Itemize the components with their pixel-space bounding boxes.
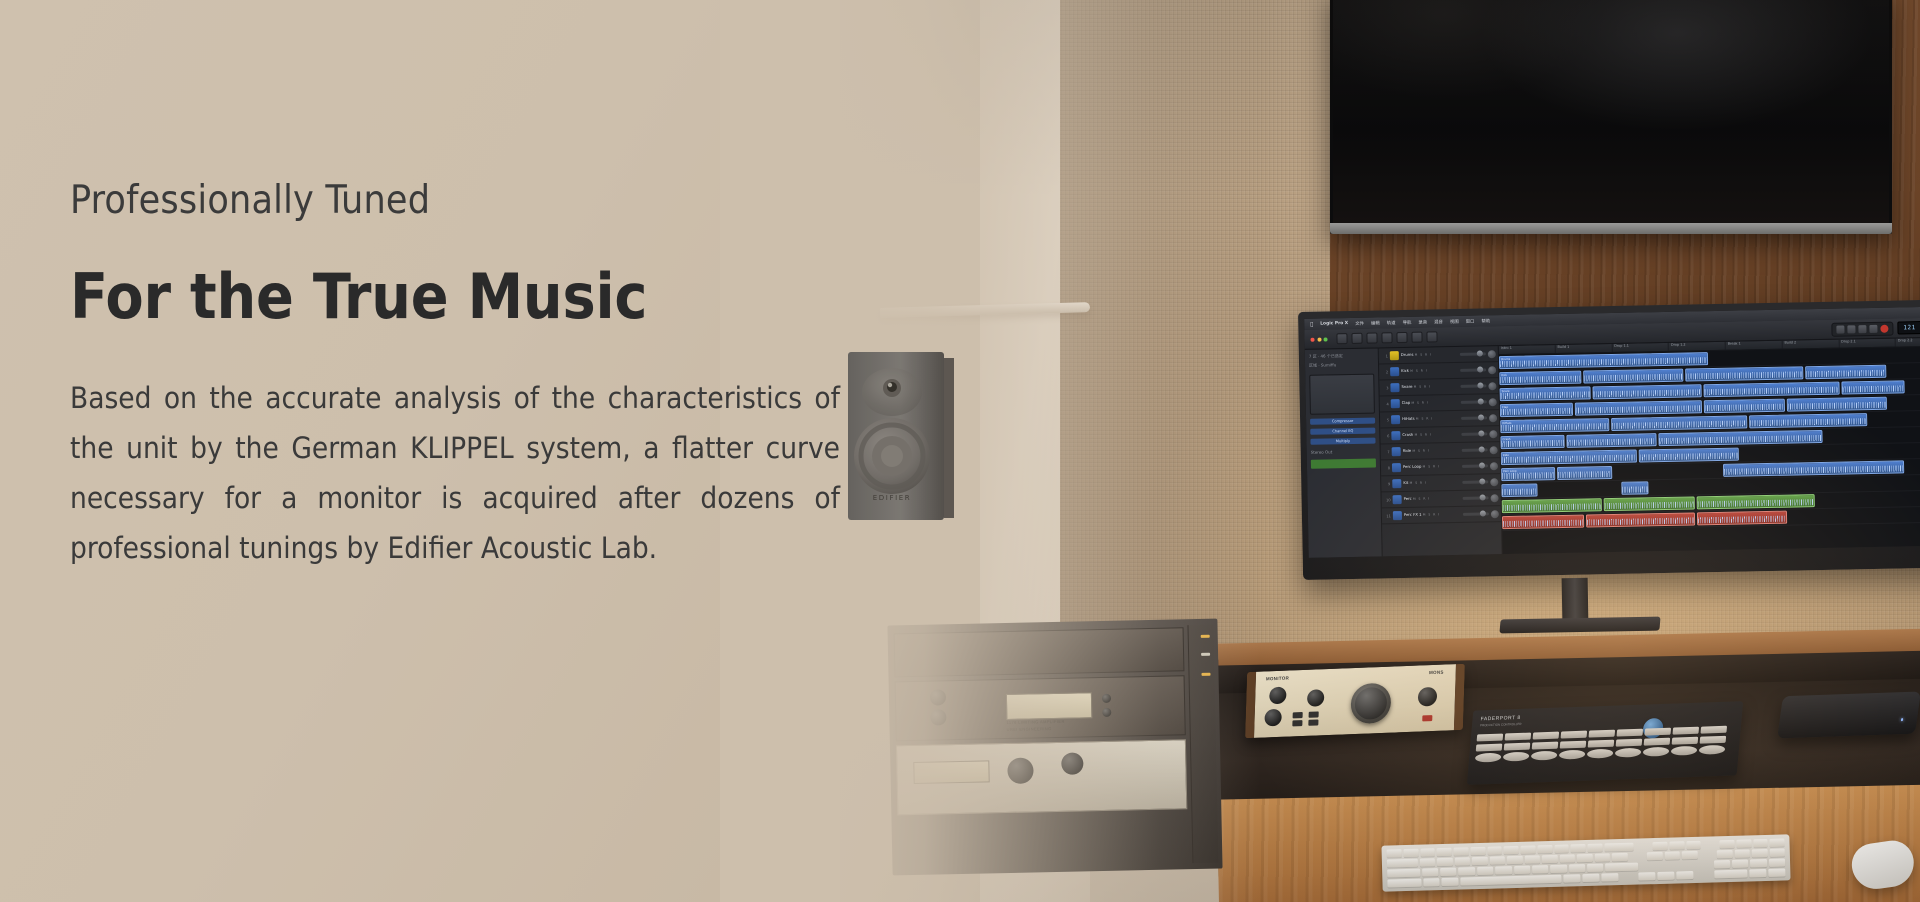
audio-region[interactable] — [1586, 512, 1695, 527]
vu-meter — [1006, 692, 1093, 720]
speaker-brand-text: EDIFIER — [873, 494, 911, 502]
surface-button[interactable] — [1589, 730, 1615, 738]
key[interactable] — [1768, 868, 1785, 876]
audio-region[interactable] — [1697, 511, 1788, 526]
key[interactable] — [1520, 845, 1535, 853]
audio-region[interactable] — [1502, 515, 1584, 530]
daw-inspector-panel: 7 区 · 46 个已选定 区域 · Sumiffu Compressor Ch… — [1305, 348, 1383, 557]
track-buttons[interactable]: M S R I — [1415, 353, 1432, 357]
track-volume-fader[interactable] — [1461, 416, 1487, 419]
key[interactable] — [1714, 869, 1748, 878]
tv-bottom-bezel — [1330, 223, 1892, 234]
key[interactable] — [1601, 873, 1618, 881]
daw-control-surface: FADERPORT 8 PRODUCTION CONTROLLER — [1467, 701, 1743, 785]
mac-mini — [1777, 691, 1920, 738]
audio-region[interactable]: Drums — [1499, 352, 1708, 369]
track-volume-fader[interactable] — [1460, 368, 1486, 371]
controller-body: MONITOR MONS — [1245, 664, 1465, 738]
rack-brand-label: UREI ENGINEERING — [1007, 726, 1052, 732]
key[interactable] — [1750, 869, 1767, 877]
surface-button[interactable] — [1644, 737, 1670, 745]
audio-region[interactable]: Clap — [1500, 403, 1573, 417]
key[interactable] — [1554, 844, 1569, 852]
track-volume-fader[interactable] — [1460, 384, 1486, 387]
daw-arrange-area[interactable]: Intro 1 Build 1 Drop 1.1 Drop 1.2 Break … — [1499, 337, 1920, 554]
menu-item-record[interactable]: 录音 — [1418, 319, 1427, 325]
marker-intro-1: Intro 1 — [1499, 345, 1556, 354]
key[interactable] — [1504, 846, 1519, 854]
apple-icon:  — [1310, 321, 1313, 327]
hero-copy: Professionally Tuned For the True Music … — [70, 178, 860, 574]
key[interactable] — [1605, 863, 1638, 872]
rack-unit-limiter: 1176 LIMITING AMPLIFIER UREI ENGINEERING — [895, 675, 1186, 741]
headphone-knob[interactable] — [1418, 687, 1438, 707]
track-volume-fader[interactable] — [1463, 496, 1489, 499]
rack-led — [1201, 635, 1210, 638]
input-knob[interactable] — [1307, 689, 1325, 707]
key[interactable] — [1752, 849, 1768, 857]
key[interactable] — [1652, 842, 1667, 850]
key[interactable] — [1734, 849, 1750, 857]
key[interactable] — [1420, 848, 1435, 856]
track-name: Perc Loop — [1403, 464, 1421, 469]
library-button[interactable] — [1336, 333, 1347, 344]
hero-banner:  Logic Pro X 文件 编辑 轨道 导航 录音 混音 视图 窗口 帮助 — [0, 0, 1920, 902]
key[interactable] — [1387, 859, 1418, 868]
track-buttons[interactable]: M S R I — [1423, 513, 1440, 517]
talkback-button[interactable] — [1422, 715, 1432, 721]
channel-fader-strip[interactable] — [1311, 459, 1376, 469]
surface-round-button[interactable] — [1699, 745, 1725, 755]
track-icon — [1391, 415, 1400, 424]
key[interactable] — [1532, 865, 1549, 873]
window-traffic-lights[interactable] — [1310, 337, 1327, 341]
daw-application:  Logic Pro X 文件 编辑 轨道 导航 录音 混音 视图 窗口 帮助 — [1304, 306, 1920, 557]
rack-switch[interactable] — [1102, 694, 1111, 703]
key[interactable] — [1437, 858, 1453, 866]
key[interactable] — [1717, 850, 1733, 858]
key[interactable] — [1736, 839, 1751, 847]
audio-region[interactable] — [1604, 496, 1695, 511]
rack-led — [1201, 653, 1210, 656]
hero-description: Based on the accurate analysis of the ch… — [70, 373, 840, 574]
key[interactable] — [1669, 841, 1684, 849]
audio-region[interactable]: Ride — [1501, 450, 1637, 466]
track-pan-knob[interactable] — [1490, 446, 1498, 454]
audio-region[interactable] — [1841, 380, 1905, 394]
key[interactable] — [1719, 840, 1734, 848]
track-icon — [1392, 479, 1401, 488]
transport-position-display: 121 1 1 1 — [1897, 321, 1920, 335]
eq-display[interactable] — [1309, 374, 1375, 415]
track-name: HiHats — [1402, 416, 1415, 421]
key[interactable] — [1420, 858, 1436, 866]
key[interactable] — [1577, 854, 1593, 862]
audio-region[interactable] — [1501, 483, 1538, 497]
menu-item-nav[interactable]: 导航 — [1402, 319, 1411, 325]
track-pan-knob[interactable] — [1488, 382, 1496, 390]
track-icon — [1390, 367, 1399, 376]
key[interactable] — [1563, 874, 1580, 882]
close-icon[interactable] — [1310, 337, 1314, 341]
key[interactable] — [1525, 855, 1541, 863]
track-name: Kick — [1401, 368, 1409, 373]
rack-switch[interactable] — [1102, 708, 1111, 717]
equipment-rack: 1176 LIMITING AMPLIFIER UREI ENGINEERING — [887, 619, 1222, 876]
track-name: Clap — [1402, 400, 1411, 405]
track-volume-fader[interactable] — [1461, 400, 1487, 403]
track-icon — [1391, 399, 1400, 408]
minimize-icon[interactable] — [1317, 337, 1321, 341]
audio-region[interactable] — [1639, 448, 1739, 463]
plugin-slot-channel-eq[interactable]: Channel EQ — [1310, 428, 1375, 435]
audio-region[interactable] — [1703, 382, 1839, 398]
stereo-out-label: Stereo Out — [1311, 449, 1333, 454]
stop-icon[interactable] — [1858, 325, 1866, 333]
marker-break-1: Break 1 — [1726, 341, 1783, 350]
key[interactable] — [1442, 878, 1459, 886]
key[interactable] — [1587, 864, 1604, 872]
level-meter — [913, 760, 989, 784]
key[interactable] — [1423, 878, 1440, 886]
key[interactable] — [1490, 856, 1506, 864]
toolbar-button[interactable] — [1381, 332, 1392, 343]
wall-mounted-tv — [1330, 0, 1892, 234]
track-buttons[interactable]: M S R I — [1413, 497, 1430, 501]
surface-button[interactable] — [1616, 738, 1642, 746]
key[interactable] — [1437, 848, 1452, 856]
key[interactable] — [1713, 860, 1730, 868]
audio-region[interactable]: Perc Loop — [1501, 467, 1556, 481]
track-buttons[interactable]: M S R I — [1416, 417, 1433, 421]
surface-button[interactable] — [1645, 728, 1671, 736]
track-pan-knob[interactable] — [1488, 350, 1496, 358]
controller-brand-right: MONS — [1429, 670, 1444, 676]
track-name: Ride — [1403, 448, 1412, 453]
smart-controls-button[interactable] — [1396, 332, 1407, 343]
track-pan-knob[interactable] — [1490, 462, 1498, 470]
rack-knob[interactable] — [930, 689, 946, 705]
audio-region[interactable] — [1611, 415, 1747, 431]
menu-item-mix[interactable]: 混音 — [1434, 319, 1443, 325]
inspector-row-region: 区域 · Sumiffu — [1309, 362, 1336, 369]
track-icon — [1392, 447, 1401, 456]
monitor-stand-neck — [1562, 578, 1589, 622]
key[interactable] — [1514, 866, 1531, 874]
key[interactable] — [1571, 844, 1586, 852]
key[interactable] — [1487, 846, 1502, 854]
key[interactable] — [1454, 847, 1469, 855]
audio-region[interactable] — [1704, 399, 1786, 414]
surface-button[interactable] — [1617, 729, 1643, 737]
key[interactable] — [1582, 874, 1599, 882]
surface-button[interactable] — [1477, 734, 1503, 742]
audio-region[interactable]: HiHats — [1500, 418, 1609, 433]
track-buttons[interactable]: M S R I — [1411, 401, 1428, 405]
dim-knob[interactable] — [1264, 709, 1282, 727]
surface-button[interactable] — [1673, 727, 1699, 735]
rack-led — [1201, 673, 1210, 676]
quick-help-button[interactable] — [1366, 332, 1377, 343]
marker-build-2: Build 2 — [1782, 340, 1839, 349]
key[interactable] — [1507, 856, 1523, 864]
menu-item-edit[interactable]: 编辑 — [1371, 320, 1380, 326]
rack-knob[interactable] — [930, 709, 946, 725]
track-buttons[interactable]: M S R I — [1414, 385, 1431, 389]
menu-item-view[interactable]: 视图 — [1450, 318, 1459, 324]
key[interactable] — [1664, 851, 1680, 859]
surface-round-button[interactable] — [1587, 749, 1613, 759]
menu-item-track[interactable]: 轨道 — [1387, 320, 1396, 326]
key[interactable] — [1422, 868, 1439, 876]
record-icon[interactable] — [1880, 324, 1888, 332]
track-name: Crash — [1402, 432, 1413, 437]
play-icon[interactable] — [1869, 324, 1877, 332]
plugin-slot-multiply[interactable]: Multiply — [1310, 438, 1375, 445]
arrow-key[interactable] — [1676, 871, 1693, 879]
eyebrow-text: Professionally Tuned — [70, 178, 860, 225]
surface-button[interactable] — [1504, 742, 1530, 750]
audio-region[interactable] — [1621, 481, 1648, 495]
rewind-icon[interactable] — [1836, 325, 1844, 333]
key[interactable] — [1440, 868, 1457, 876]
surface-button[interactable] — [1505, 733, 1531, 741]
track-icon — [1393, 495, 1402, 504]
track-buttons[interactable]: M S R I — [1423, 465, 1440, 469]
track-volume-fader[interactable] — [1462, 448, 1488, 451]
track-buttons[interactable]: M S R I — [1410, 481, 1427, 485]
plugin-slot-compressor[interactable]: Compressor — [1310, 418, 1375, 425]
menu-item-help[interactable]: 帮助 — [1481, 318, 1490, 324]
controller-brand-left: MONITOR — [1266, 676, 1289, 682]
track-name: Snare — [1401, 384, 1412, 389]
key[interactable] — [1470, 847, 1485, 855]
key[interactable] — [1732, 859, 1749, 867]
track-pan-knob[interactable] — [1488, 366, 1496, 374]
trim-knob[interactable] — [1269, 687, 1287, 705]
monitor-stand-base — [1499, 617, 1660, 634]
audio-region[interactable]: Kick — [1499, 371, 1581, 386]
marker-drop-1-1: Drop 1.1 — [1612, 343, 1669, 352]
key[interactable] — [1387, 879, 1421, 888]
surface-round-button[interactable] — [1503, 752, 1529, 762]
track-row[interactable]: 11 Perc FX 1 M S R I — [1382, 506, 1501, 524]
inspector-button[interactable] — [1351, 333, 1362, 344]
key[interactable] — [1455, 857, 1471, 865]
audio-region[interactable] — [1723, 460, 1905, 476]
surface-sub-label: PRODUCTION CONTROLLER — [1480, 722, 1522, 727]
audio-region[interactable] — [1749, 413, 1867, 428]
key[interactable] — [1495, 866, 1512, 874]
audio-region[interactable] — [1566, 433, 1657, 448]
key[interactable] — [1750, 859, 1767, 867]
audio-region[interactable] — [1685, 366, 1803, 381]
marker-drop-2-2: Drop 2.2 — [1896, 337, 1920, 346]
editors-button[interactable] — [1426, 331, 1437, 342]
inspector-row-selection: 7 区 · 46 个已选定 — [1309, 353, 1343, 360]
surface-button[interactable] — [1533, 732, 1559, 740]
key[interactable] — [1604, 843, 1634, 852]
menu-item-file[interactable]: 文件 — [1355, 320, 1364, 326]
audio-region[interactable] — [1659, 430, 1823, 446]
surface-button[interactable] — [1700, 735, 1726, 743]
key[interactable] — [1682, 851, 1698, 859]
key[interactable] — [1686, 841, 1701, 849]
forward-icon[interactable] — [1847, 325, 1855, 333]
audio-region[interactable] — [1592, 384, 1701, 399]
key[interactable] — [1595, 853, 1611, 861]
key[interactable] — [1387, 869, 1420, 878]
track-volume-fader[interactable] — [1463, 512, 1489, 515]
audio-region[interactable] — [1557, 466, 1612, 480]
transport-controls[interactable] — [1831, 321, 1893, 336]
track-name: Kit — [1403, 480, 1408, 485]
tv-screen — [1333, 0, 1889, 224]
daw-app-name: Logic Pro X — [1320, 321, 1348, 327]
key[interactable] — [1403, 849, 1418, 857]
track-name: Drums — [1401, 352, 1414, 357]
computer-monitor:  Logic Pro X 文件 编辑 轨道 导航 录音 混音 视图 窗口 帮助 — [1298, 299, 1920, 580]
key[interactable] — [1569, 864, 1586, 872]
track-pan-knob[interactable] — [1491, 494, 1499, 502]
audio-region[interactable] — [1583, 369, 1683, 384]
audio-region[interactable] — [1502, 498, 1602, 513]
surface-button-grid[interactable] — [1475, 726, 1727, 763]
daw-body: 7 区 · 46 个已选定 区域 · Sumiffu Compressor Ch… — [1305, 337, 1920, 557]
rack-unit-label: 1176 LIMITING AMPLIFIER — [1006, 719, 1064, 725]
output-knob[interactable] — [1061, 752, 1083, 774]
surface-round-button[interactable] — [1559, 750, 1585, 760]
key[interactable] — [1612, 853, 1628, 861]
key[interactable] — [1459, 867, 1476, 875]
track-pan-knob[interactable] — [1489, 398, 1497, 406]
track-icon — [1392, 463, 1401, 472]
audio-region[interactable] — [1574, 400, 1701, 415]
mute-button[interactable] — [1293, 712, 1303, 718]
volume-knob[interactable] — [1350, 683, 1391, 725]
marker-drop-1-2: Drop 1.2 — [1669, 342, 1726, 351]
speaker-a-button[interactable] — [1292, 720, 1302, 726]
track-icon — [1390, 383, 1399, 392]
surface-button[interactable] — [1561, 731, 1587, 739]
surface-round-button[interactable] — [1475, 753, 1501, 763]
track-volume-fader[interactable] — [1461, 432, 1487, 435]
surface-button[interactable] — [1588, 739, 1614, 747]
track-icon — [1393, 511, 1402, 520]
rack-rails — [1187, 625, 1218, 863]
track-buttons[interactable]: M S R I — [1410, 369, 1427, 373]
track-name: Perc — [1404, 496, 1412, 501]
speaker-b-button[interactable] — [1308, 719, 1318, 725]
edifier-studio-monitor: EDIFIER — [846, 348, 956, 528]
audio-region[interactable]: Crash — [1500, 435, 1564, 449]
key[interactable] — [1753, 839, 1768, 847]
mono-button[interactable] — [1309, 711, 1319, 717]
key[interactable] — [1769, 848, 1785, 856]
key[interactable] — [1560, 854, 1576, 862]
key[interactable] — [1770, 838, 1785, 846]
surface-button[interactable] — [1672, 736, 1698, 744]
track-buttons[interactable]: M S R I — [1412, 449, 1429, 453]
key[interactable] — [1550, 865, 1567, 873]
surface-button[interactable] — [1701, 726, 1727, 734]
track-volume-fader[interactable] — [1462, 464, 1488, 467]
zoom-icon[interactable] — [1323, 337, 1327, 341]
track-pan-knob[interactable] — [1491, 510, 1499, 518]
track-pan-knob[interactable] — [1489, 414, 1497, 422]
track-icon — [1391, 431, 1400, 440]
audio-region[interactable]: Snare — [1499, 386, 1590, 401]
key[interactable] — [1472, 857, 1488, 865]
key[interactable] — [1477, 867, 1494, 875]
surface-round-button[interactable] — [1643, 747, 1669, 757]
surface-button[interactable] — [1476, 743, 1502, 751]
track-name: Perc FX 1 — [1404, 512, 1422, 517]
track-volume-fader[interactable] — [1460, 352, 1486, 355]
marker-build-1: Build 1 — [1555, 344, 1612, 353]
surface-round-button[interactable] — [1671, 746, 1697, 756]
audio-region[interactable] — [1787, 397, 1887, 412]
key[interactable] — [1647, 852, 1663, 860]
track-buttons[interactable]: M S R I — [1415, 433, 1432, 437]
track-icon — [1390, 351, 1399, 360]
page-title: For the True Music — [70, 263, 860, 331]
menu-item-window[interactable]: 窗口 — [1466, 318, 1475, 324]
track-pan-knob[interactable] — [1489, 430, 1497, 438]
mixer-button[interactable] — [1411, 332, 1422, 343]
daw-track-headers: 1 Drums M S R I 2 — [1379, 346, 1503, 556]
marker-drop-2-1: Drop 2.1 — [1839, 339, 1896, 348]
arrow-key[interactable] — [1639, 872, 1656, 880]
rack-unit-preamp — [896, 739, 1187, 815]
audio-region[interactable] — [1696, 494, 1814, 509]
audio-region[interactable] — [1805, 365, 1887, 380]
surface-button[interactable] — [1560, 740, 1586, 748]
track-pan-knob[interactable] — [1490, 478, 1498, 486]
key[interactable] — [1387, 849, 1402, 857]
surface-round-button[interactable] — [1531, 751, 1557, 761]
space-key[interactable] — [1461, 875, 1562, 886]
surface-round-button[interactable] — [1615, 748, 1641, 758]
key[interactable] — [1587, 844, 1602, 852]
rack-unit-blank — [894, 627, 1185, 677]
key[interactable] — [1537, 845, 1552, 853]
gain-knob[interactable] — [1007, 757, 1034, 784]
surface-button[interactable] — [1532, 741, 1558, 749]
key[interactable] — [1769, 858, 1786, 866]
track-volume-fader[interactable] — [1462, 480, 1488, 483]
monitor-controller: MONITOR MONS — [1245, 664, 1465, 738]
arrow-key[interactable] — [1658, 872, 1675, 880]
key[interactable] — [1542, 855, 1558, 863]
